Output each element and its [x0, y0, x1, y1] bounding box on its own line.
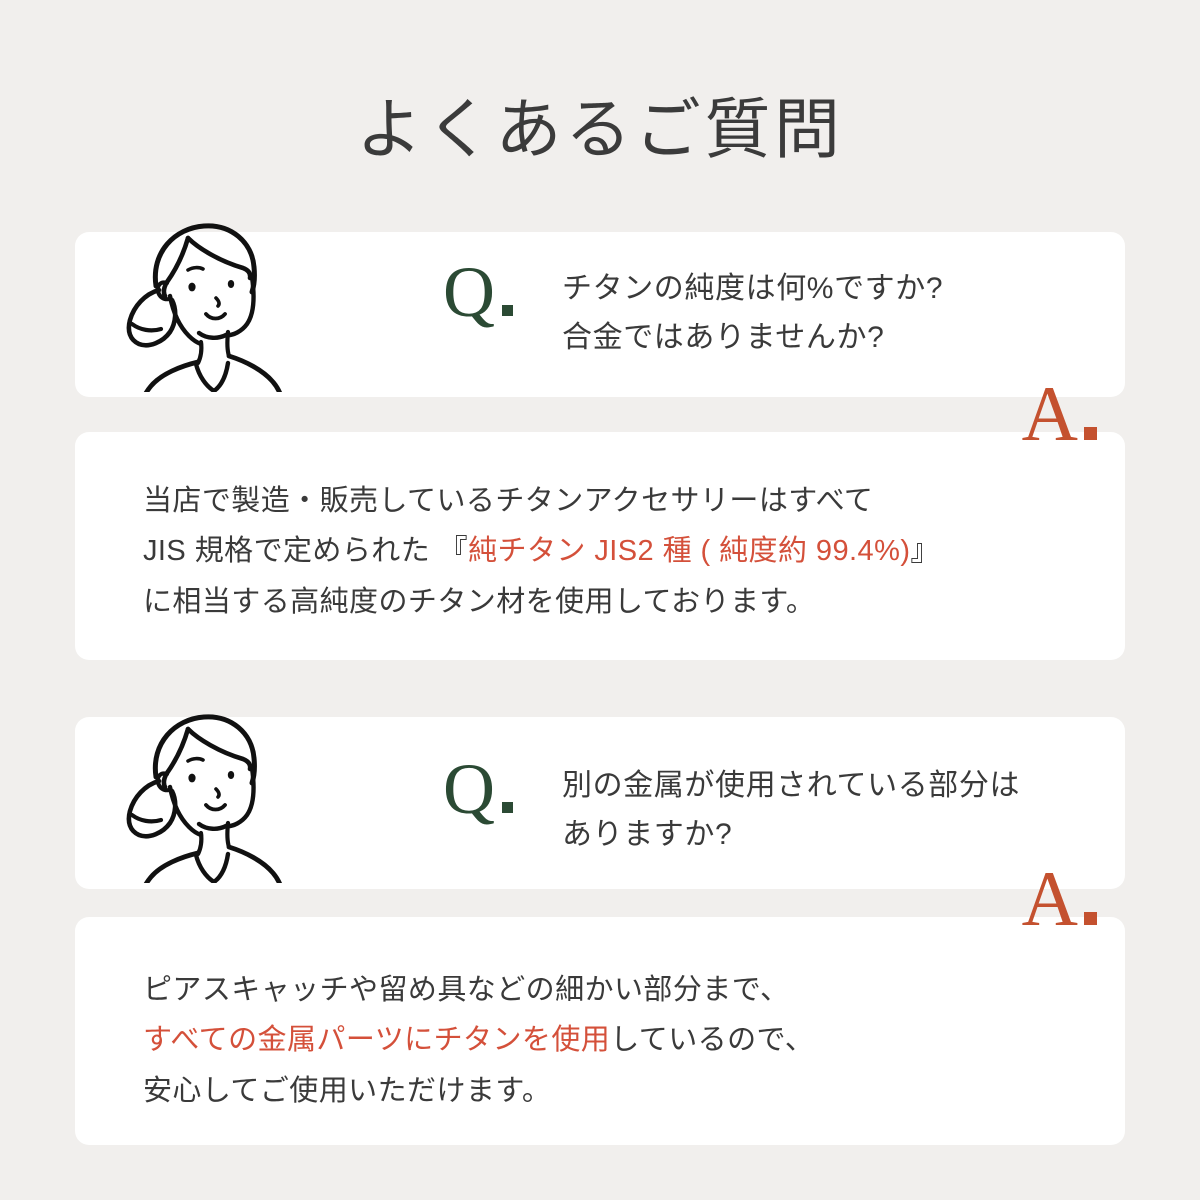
answer-segment: 当店で製造・販売しているチタンアクセサリーはすべて	[143, 485, 873, 517]
question-card: Q 別の金属が使用されている部分は ありますか?	[75, 717, 1125, 889]
answer-line: すべての金属パーツにチタンを使用しているので、	[143, 1015, 814, 1065]
answer-card: A 当店で製造・販売しているチタンアクセサリーはすべて JIS 規格で定められた…	[75, 432, 1125, 660]
faq-page: よくあるご質問	[0, 0, 1200, 1200]
question-line: チタンの純度は何%ですか?	[562, 265, 943, 314]
woman-illustration-icon	[115, 705, 290, 883]
question-marker-dot	[502, 802, 513, 813]
answer-marker-dot	[1084, 912, 1097, 925]
answer-marker-letter: A	[1022, 370, 1078, 457]
answer-segment: 』	[910, 535, 939, 567]
answer-text: 当店で製造・販売しているチタンアクセサリーはすべて JIS 規格で定められた 『…	[143, 476, 940, 627]
question-marker: Q	[443, 256, 513, 328]
answer-segment-highlight: 純チタン JIS2 種 ( 純度約 99.4%)	[468, 535, 910, 567]
answer-segment: に相当する高純度のチタン材を使用しております。	[143, 586, 815, 618]
answer-line: に相当する高純度のチタン材を使用しております。	[143, 577, 940, 627]
question-marker-letter: Q	[443, 252, 495, 332]
question-line: 別の金属が使用されている部分は	[562, 762, 1020, 811]
question-text: 別の金属が使用されている部分は ありますか?	[562, 762, 1020, 859]
answer-line: 当店で製造・販売しているチタンアクセサリーはすべて	[143, 476, 940, 526]
answer-segment-highlight: すべての金属パーツにチタンを使用	[143, 1024, 610, 1056]
answer-segment: しているので、	[610, 1024, 814, 1056]
answer-line: ピアスキャッチや留め具などの細かい部分まで、	[143, 965, 814, 1015]
page-title: よくあるご質問	[0, 92, 1200, 168]
answer-segment: 安心してご使用いただけます。	[143, 1075, 551, 1107]
answer-marker-dot	[1084, 427, 1097, 440]
question-marker-dot	[502, 305, 513, 316]
answer-line: 安心してご使用いただけます。	[143, 1066, 814, 1116]
answer-segment: JIS 規格で定められた 『	[143, 535, 468, 567]
answer-card: A ピアスキャッチや留め具などの細かい部分まで、 すべての金属パーツにチタンを使…	[75, 917, 1125, 1145]
question-marker-letter: Q	[443, 749, 495, 829]
answer-marker: A	[1022, 860, 1097, 938]
answer-line: JIS 規格で定められた 『純チタン JIS2 種 ( 純度約 99.4%)』	[143, 526, 940, 576]
question-marker: Q	[443, 753, 513, 825]
question-line: ありますか?	[562, 811, 1020, 860]
question-card: Q チタンの純度は何%ですか? 合金ではありませんか?	[75, 232, 1125, 397]
question-text: チタンの純度は何%ですか? 合金ではありませんか?	[562, 265, 943, 362]
answer-marker: A	[1022, 375, 1097, 453]
answer-marker-letter: A	[1022, 855, 1078, 942]
question-line: 合金ではありませんか?	[562, 314, 943, 363]
answer-segment: ピアスキャッチや留め具などの細かい部分まで、	[143, 974, 789, 1006]
answer-text: ピアスキャッチや留め具などの細かい部分まで、 すべての金属パーツにチタンを使用し…	[143, 965, 814, 1116]
woman-illustration-icon	[115, 214, 290, 392]
